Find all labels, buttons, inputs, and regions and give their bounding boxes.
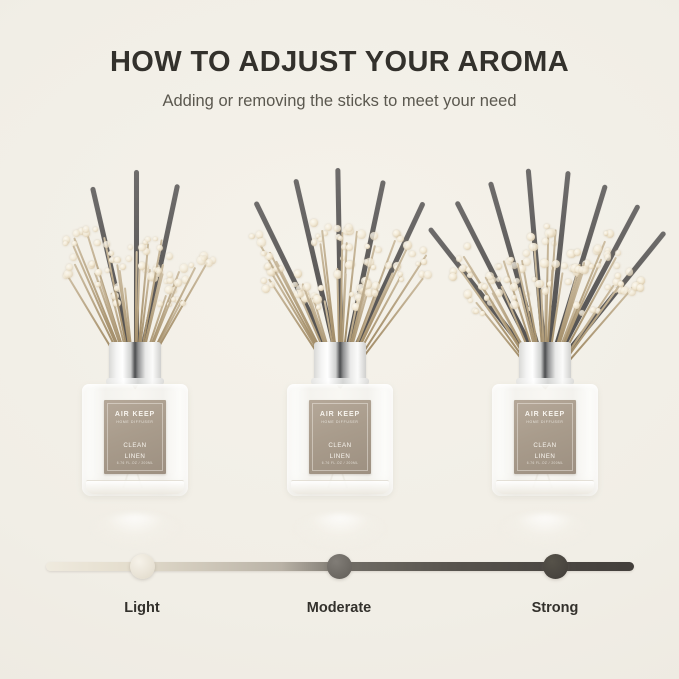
label-volume: 6.76 FL.OZ / 200ML [104,461,166,465]
bottle-reflection [498,514,592,548]
diffuser-bottle: AIR KEEP HOME DIFFUSER CLEAN LINEN 6.76 … [492,380,598,500]
page-title: HOW TO ADJUST YOUR AROMA [0,46,679,79]
reed-sticks-moderate [235,118,445,378]
header: HOW TO ADJUST YOUR AROMA Adding or remov… [0,46,679,111]
bottle-glass: AIR KEEP HOME DIFFUSER CLEAN LINEN 6.76 … [82,384,188,496]
diffuser-moderate: AIR KEEP HOME DIFFUSER CLEAN LINEN 6.76 … [235,118,445,518]
bottle-reflection [88,514,182,548]
intensity-label-light: Light [124,600,159,616]
diffuser-light: AIR KEEP HOME DIFFUSER CLEAN LINEN 6.76 … [30,118,240,518]
reed-sticks-light [30,118,240,378]
intensity-label-moderate: Moderate [307,600,371,616]
diffuser-bottle: AIR KEEP HOME DIFFUSER CLEAN LINEN 6.76 … [287,380,393,500]
bottle-base [86,480,184,494]
product-label: AIR KEEP HOME DIFFUSER CLEAN LINEN 6.76 … [309,400,371,474]
intensity-slider[interactable] [46,558,634,574]
bottle-collar [314,342,366,382]
label-volume: 6.76 FL.OZ / 200ML [309,461,371,465]
intensity-labels: Light Moderate Strong [46,600,634,622]
product-label: AIR KEEP HOME DIFFUSER CLEAN LINEN 6.76 … [514,400,576,474]
diffuser-strong: AIR KEEP HOME DIFFUSER CLEAN LINEN 6.76 … [440,118,650,518]
bottle-collar [109,342,161,382]
intensity-label-strong: Strong [532,600,579,616]
bottle-glass: AIR KEEP HOME DIFFUSER CLEAN LINEN 6.76 … [492,384,598,496]
product-label: AIR KEEP HOME DIFFUSER CLEAN LINEN 6.76 … [104,400,166,474]
page-subtitle: Adding or removing the sticks to meet yo… [0,92,679,111]
infographic-stage: HOW TO ADJUST YOUR AROMA Adding or remov… [0,0,679,679]
bottle-collar [519,342,571,382]
bottle-base [496,480,594,494]
slider-dot-light[interactable] [130,554,155,579]
slider-dot-moderate[interactable] [327,554,352,579]
bottle-glass: AIR KEEP HOME DIFFUSER CLEAN LINEN 6.76 … [287,384,393,496]
bottle-base [291,480,389,494]
diffuser-row: AIR KEEP HOME DIFFUSER CLEAN LINEN 6.76 … [0,118,679,518]
bottle-reflection [293,514,387,548]
diffuser-bottle: AIR KEEP HOME DIFFUSER CLEAN LINEN 6.76 … [82,380,188,500]
reed-sticks-strong [440,118,650,378]
slider-dot-strong[interactable] [543,554,568,579]
label-volume: 6.76 FL.OZ / 200ML [514,461,576,465]
